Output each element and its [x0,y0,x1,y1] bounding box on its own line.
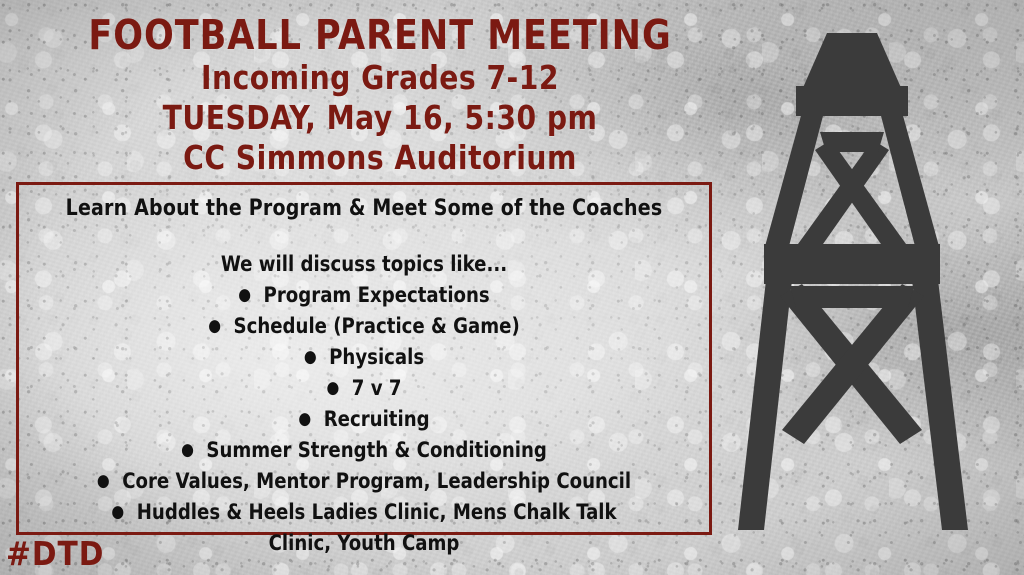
list-item: ●Recruiting [39,404,690,435]
list-item-label: Core Values, Mentor Program, Leadership … [122,469,631,493]
list-item-label: Physicals [329,345,424,369]
panel-intro: We will discuss topics like... [39,249,690,280]
bullet-icon: ● [304,342,329,373]
bullet-icon: ● [181,435,206,466]
list-item: ●Summer Strength & Conditioning [39,435,690,466]
football-parent-meeting-flyer: FOOTBALL PARENT MEETING Incoming Grades … [0,0,1024,575]
oil-derrick-icon [736,0,1024,575]
list-item-label: Schedule (Practice & Game) [234,314,520,338]
bullet-icon: ● [111,497,136,528]
heading-line-2: Incoming Grades 7-12 [19,58,741,98]
list-item: ●Schedule (Practice & Game) [39,311,690,342]
bullet-icon: ● [327,373,352,404]
list-item: ●Physicals [39,342,690,373]
heading-line-1: FOOTBALL PARENT MEETING [19,12,741,58]
list-item: ●7 v 7 [39,373,690,404]
panel-spacer [25,224,703,249]
panel-headline: Learn About the Program & Meet Some of t… [39,194,690,224]
list-item-label: Recruiting [324,407,430,431]
bullet-icon: ● [238,280,263,311]
heading-line-4: CC Simmons Auditorium [19,138,741,178]
hashtag-dtd: #DTD [6,535,104,573]
list-item-label: Summer Strength & Conditioning [206,438,547,462]
bullet-icon: ● [97,466,122,497]
bullet-icon: ● [298,404,323,435]
list-item-continuation: Clinic, Youth Camp [39,528,690,559]
list-item-label: Program Expectations [264,283,490,307]
list-item-label: 7 v 7 [352,376,402,400]
heading-block: FOOTBALL PARENT MEETING Incoming Grades … [0,12,760,178]
details-panel-content: Learn About the Program & Meet Some of t… [19,185,709,532]
list-item-label: Huddles & Heels Ladies Clinic, Mens Chal… [137,500,617,524]
details-panel: Learn About the Program & Meet Some of t… [16,182,712,535]
list-item: ●Huddles & Heels Ladies Clinic, Mens Cha… [39,497,690,528]
list-item: ●Core Values, Mentor Program, Leadership… [39,466,690,497]
bullet-icon: ● [208,311,233,342]
list-item: ●Program Expectations [39,280,690,311]
heading-line-3: TUESDAY, May 16, 5:30 pm [19,98,741,138]
